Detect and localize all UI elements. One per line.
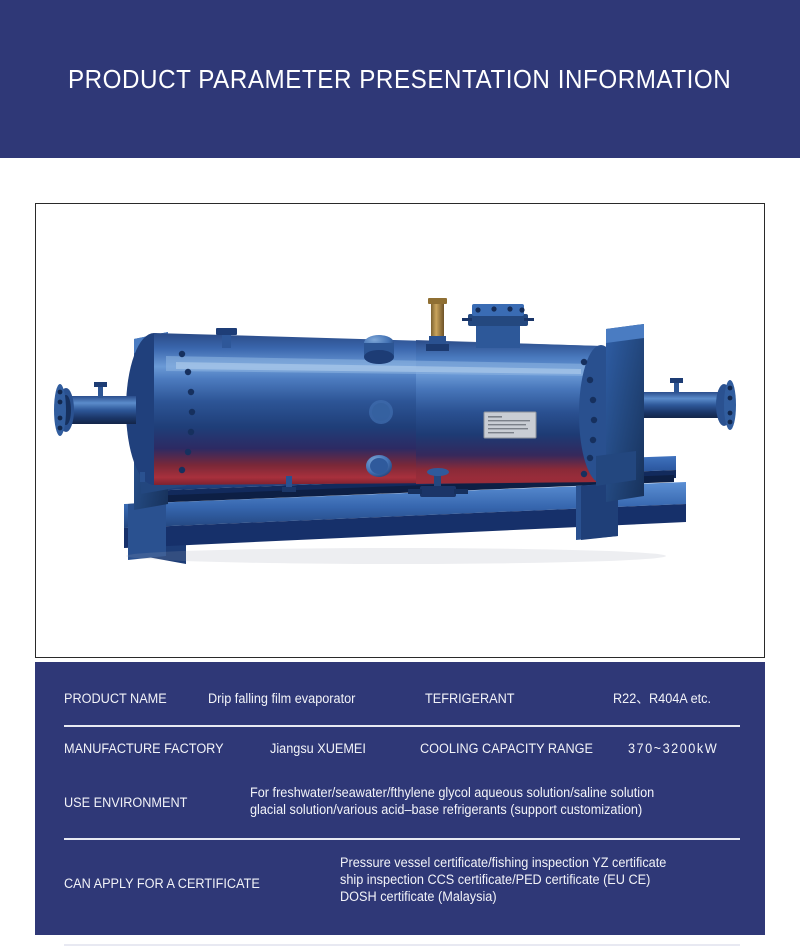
spec-row-certificate: CAN APPLY FOR A CERTIFICATE Pressure ves…	[35, 832, 765, 935]
product-spec-table: PRODUCT NAME Drip falling film evaporato…	[35, 662, 765, 935]
page-title: PRODUCT PARAMETER PRESENTATION INFORMATI…	[68, 64, 731, 95]
spec-label-use-environment: USE ENVIRONMENT	[64, 794, 187, 811]
spec-value-cooling-capacity-range: 370~3200kW	[628, 740, 718, 757]
spec-value-certificate: Pressure vessel certificate/fishing insp…	[340, 854, 666, 905]
spec-label-product-name: PRODUCT NAME	[64, 690, 167, 707]
spec-row-separator	[64, 944, 740, 946]
page-header-banner: PRODUCT PARAMETER PRESENTATION INFORMATI…	[0, 0, 800, 158]
spec-row-product-name: PRODUCT NAME Drip falling film evaporato…	[35, 662, 765, 726]
product-image-frame	[35, 203, 765, 658]
spec-row-manufacture-factory: MANUFACTURE FACTORY Jiangsu XUEMEI COOLI…	[35, 726, 765, 775]
spec-value-manufacture-factory: Jiangsu XUEMEI	[270, 740, 366, 757]
spec-label-refrigerant: TEFRIGERANT	[425, 690, 515, 707]
product-photo-evaporator	[36, 204, 764, 657]
spec-label-certificate: CAN APPLY FOR A CERTIFICATE	[64, 875, 260, 892]
spec-value-refrigerant: R22、R404A etc.	[613, 690, 711, 707]
spec-label-manufacture-factory: MANUFACTURE FACTORY	[64, 740, 224, 757]
spec-value-use-environment: For freshwater/seawater/fthylene glycol …	[250, 784, 654, 818]
spec-row-use-environment: USE ENVIRONMENT For freshwater/seawater/…	[35, 775, 765, 832]
spec-value-product-name: Drip falling film evaporator	[208, 690, 355, 707]
spec-label-cooling-capacity-range: COOLING CAPACITY RANGE	[420, 740, 593, 757]
